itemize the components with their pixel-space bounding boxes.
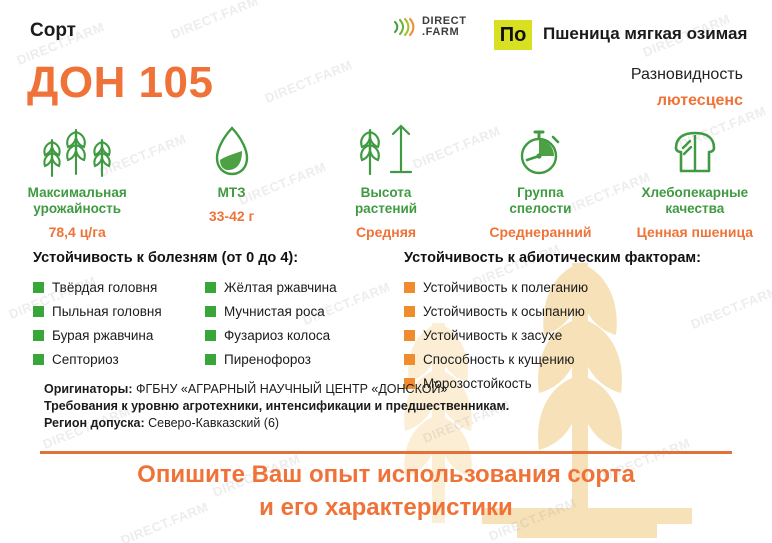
disease-list-column-2: Жёлтая ржавчина Мучнистая роса Фузариоз … [205,275,377,371]
feature-value: Среднеранний [489,224,591,240]
variety-type-label: Разновидность [631,66,743,84]
feature-plant-height: Высотарастений Средняя [309,124,463,240]
abiotic-resistance-block: Устойчивость к абиотическим факторам: Ус… [404,250,772,395]
region-value: Северо-Кавказский (6) [148,416,279,430]
po-badge: По [494,20,532,50]
logo-text-farm: .FARM [422,27,467,38]
square-marker-icon [205,354,216,365]
list-item-label: Септориоз [52,352,119,367]
list-item-label: Пиренофороз [224,352,311,367]
list-item-label: Жёлтая ржавчина [224,280,337,295]
originators-label: Оригинаторы: [44,382,133,396]
cta-line-2: и его характеристики [0,491,772,524]
list-item-label: Пыльная головня [52,304,162,319]
list-item: Пиренофороз [205,347,377,371]
list-item: Бурая ржавчина [33,323,205,347]
originators-line: Оригинаторы: ФГБНУ «АГРАРНЫЙ НАУЧНЫЙ ЦЕН… [44,381,744,398]
variety-name-title: ДОН 105 [27,58,213,108]
bread-icon [666,124,724,178]
region-line: Регион допуска: Северо-Кавказский (6) [44,415,744,432]
list-item: Устойчивость к полеганию [404,275,772,299]
list-item-label: Устойчивость к осыпанию [423,304,585,319]
list-item: Фузариоз колоса [205,323,377,347]
feature-baking-quality: Хлебопекарныекачества Ценная пшеница [618,124,772,240]
crop-name: Пшеница мягкая озимая [543,24,747,44]
directfarm-logo: DIRECT .FARM [393,16,467,38]
square-marker-icon [33,330,44,341]
info-block: Оригинаторы: ФГБНУ «АГРАРНЫЙ НАУЧНЫЙ ЦЕН… [44,381,744,432]
chevron-arcs-icon [393,16,417,38]
plant-height-icon [355,124,417,178]
feature-title: МТЗ [218,185,246,201]
list-item: Твёрдая головня [33,275,205,299]
square-marker-icon [205,306,216,317]
list-item: Жёлтая ржавчина [205,275,377,299]
cta-line-1: Опишите Ваш опыт использования сорта [0,458,772,491]
divider [40,451,732,454]
disease-resistance-block: Устойчивость к болезням (от 0 до 4): Твё… [33,250,403,371]
list-item: Мучнистая роса [205,299,377,323]
list-item-label: Твёрдая головня [52,280,157,295]
square-marker-icon [404,282,415,293]
list-item-label: Способность к кущению [423,352,574,367]
feature-max-yield: Максимальнаяурожайность 78,4 ц/га [0,124,154,240]
list-item: Способность к кущению [404,347,772,371]
square-marker-icon [404,330,415,341]
list-item: Устойчивость к засухе [404,323,772,347]
square-marker-icon [404,354,415,365]
requirements-line: Требования к уровню агротехники, интенси… [44,398,744,415]
feature-value: Средняя [356,224,416,240]
feature-title: Максимальнаяурожайность [28,185,127,217]
abiotic-resistance-heading: Устойчивость к абиотическим факторам: [404,250,772,266]
list-item: Пыльная головня [33,299,205,323]
square-marker-icon [205,282,216,293]
call-to-action: Опишите Ваш опыт использования сорта и е… [0,458,772,524]
list-item: Септориоз [33,347,205,371]
list-item-label: Мучнистая роса [224,304,325,319]
feature-ripeness-group: Группаспелости Среднеранний [463,124,617,240]
square-marker-icon [33,354,44,365]
feature-value: 33-42 г [209,208,255,224]
sort-label: Сорт [30,20,76,42]
list-item: Устойчивость к осыпанию [404,299,772,323]
abiotic-list: Устойчивость к полеганию Устойчивость к … [404,275,772,395]
square-marker-icon [33,306,44,317]
list-item-label: Устойчивость к полеганию [423,280,588,295]
wheat-ears-icon [37,124,117,178]
square-marker-icon [205,330,216,341]
feature-value: Ценная пшеница [637,224,753,240]
list-item-label: Устойчивость к засухе [423,328,562,343]
disease-resistance-heading: Устойчивость к болезням (от 0 до 4): [33,250,403,266]
infographic-page: DIRECT.FARM DIRECT.FARM DIRECT.FARM DIRE… [0,0,772,543]
disease-list-column-1: Твёрдая головня Пыльная головня Бурая рж… [33,275,205,371]
feature-row: Максимальнаяурожайность 78,4 ц/га МТЗ 33… [0,124,772,240]
feature-title: Хлебопекарныекачества [641,185,748,217]
originators-value: ФГБНУ «АГРАРНЫЙ НАУЧНЫЙ ЦЕНТР «ДОНСКОЙ» [136,382,447,396]
region-label: Регион допуска: [44,416,145,430]
square-marker-icon [404,306,415,317]
seed-drop-icon [209,124,255,178]
feature-value: 78,4 ц/га [49,224,106,240]
square-marker-icon [33,282,44,293]
variety-type-value: лютесценс [657,92,743,110]
feature-title: Высотарастений [355,185,417,217]
stopwatch-icon [514,124,566,178]
feature-title: Группаспелости [509,185,571,217]
feature-tkw: МТЗ 33-42 г [154,124,308,240]
list-item-label: Бурая ржавчина [52,328,153,343]
list-item-label: Фузариоз колоса [224,328,330,343]
